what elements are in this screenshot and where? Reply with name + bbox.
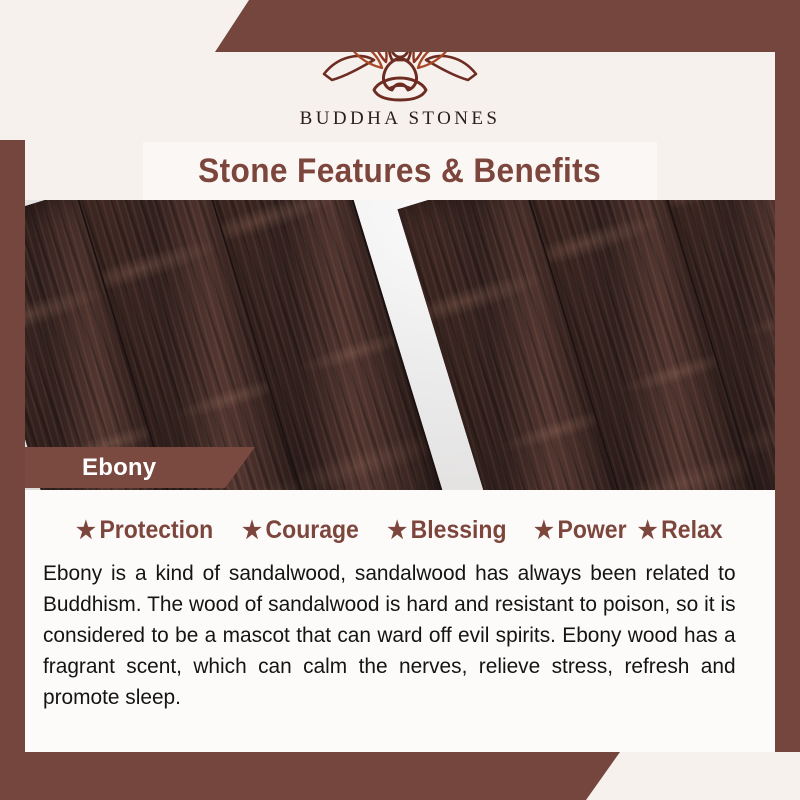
benefit-label: Relax — [661, 516, 722, 545]
product-name-label: Ebony — [82, 454, 156, 482]
benefit-label: Power — [557, 516, 626, 545]
benefit-label: Blessing — [410, 516, 506, 545]
frame-bottom-left — [0, 752, 620, 800]
star-icon: ★ — [534, 519, 554, 543]
star-icon: ★ — [638, 519, 658, 543]
product-photo — [0, 200, 800, 490]
benefit-label: Courage — [265, 516, 358, 545]
frame-left-bar — [0, 140, 25, 752]
benefit-item: ★ Protection — [76, 516, 213, 545]
benefit-item: ★ Courage — [242, 516, 359, 545]
brand-name: BUDDHA STONES — [300, 108, 501, 130]
infographic-page: BUDDHA STONES Stone Features & Benefits … — [0, 0, 800, 800]
benefit-item: ★ Power — [534, 516, 627, 545]
description-text: Ebony is a kind of sandalwood, sandalwoo… — [43, 558, 736, 713]
frame-top-right — [215, 0, 800, 52]
benefit-item: ★ Relax — [638, 516, 723, 545]
star-icon: ★ — [387, 519, 407, 543]
title-banner: Stone Features & Benefits — [143, 142, 657, 200]
benefit-label: Protection — [99, 516, 213, 545]
star-icon: ★ — [242, 519, 262, 543]
content-panel: ★ Protection ★ Courage ★ Blessing ★ Powe… — [25, 490, 775, 752]
page-title: Stone Features & Benefits — [199, 152, 602, 191]
frame-right-bar — [775, 52, 800, 752]
product-name-tag: Ebony — [25, 447, 255, 488]
benefits-row: ★ Protection ★ Courage ★ Blessing ★ Powe… — [25, 516, 775, 545]
star-icon: ★ — [76, 519, 96, 543]
benefit-item: ★ Blessing — [387, 516, 506, 545]
